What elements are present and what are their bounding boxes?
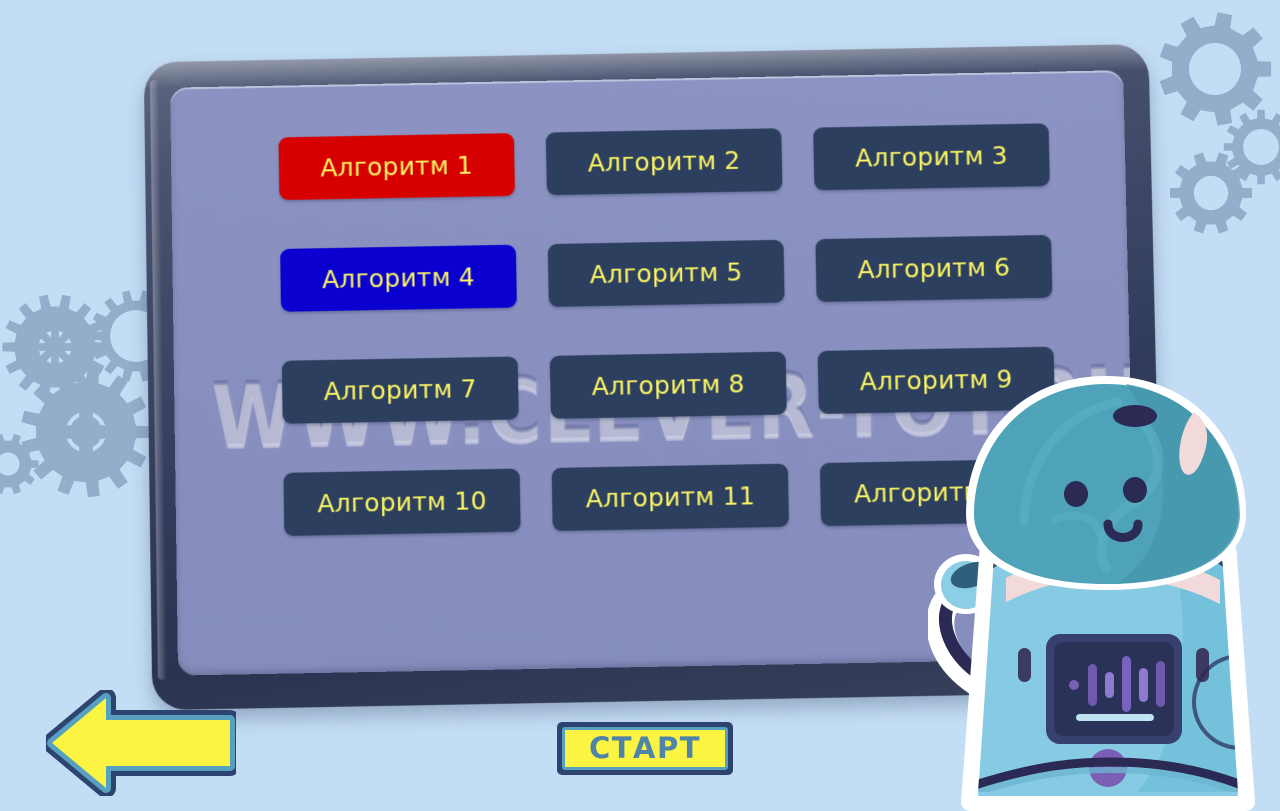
- algorithm-button-11[interactable]: Алгоритм 11: [552, 464, 789, 531]
- algorithm-grid: Алгоритм 1Алгоритм 2Алгоритм 3Алгоритм 4…: [278, 123, 1075, 536]
- algorithm-button-1[interactable]: Алгоритм 1: [278, 133, 514, 200]
- gear-top-right-small-icon: [1222, 108, 1280, 186]
- gear-left-cross-large-icon: [18, 364, 154, 500]
- gear-left-small-edge-icon: [0, 432, 40, 496]
- algorithm-button-7[interactable]: Алгоритм 7: [282, 356, 519, 423]
- gear-right-upper-icon: [1168, 150, 1254, 236]
- app-screen: WWW.CLEVER-TOY.RU Алгоритм 1Алгоритм 2Ал…: [0, 0, 1280, 811]
- algorithm-button-3[interactable]: Алгоритм 3: [813, 123, 1050, 190]
- panel-screen: WWW.CLEVER-TOY.RU Алгоритм 1Алгоритм 2Ал…: [170, 70, 1137, 675]
- algorithm-button-10[interactable]: Алгоритм 10: [283, 469, 520, 536]
- start-button-label: СТАРТ: [589, 734, 701, 763]
- algorithm-button-6[interactable]: Алгоритм 6: [815, 235, 1052, 302]
- algorithm-button-12[interactable]: Алгоритм 12: [820, 459, 1058, 526]
- algorithm-button-4[interactable]: Алгоритм 4: [280, 245, 517, 312]
- algorithm-button-9[interactable]: Алгоритм 9: [818, 347, 1055, 414]
- algorithm-button-8[interactable]: Алгоритм 8: [550, 352, 787, 419]
- start-button[interactable]: СТАРТ: [557, 722, 733, 775]
- algorithm-button-2[interactable]: Алгоритм 2: [546, 128, 783, 195]
- gear-top-right-large-icon: [1156, 10, 1274, 128]
- gear-left-spoked-icon: [0, 292, 110, 402]
- algorithm-button-5[interactable]: Алгоритм 5: [548, 240, 785, 307]
- tablet-panel: WWW.CLEVER-TOY.RU Алгоритм 1Алгоритм 2Ал…: [148, 52, 1156, 700]
- start-button-inner: СТАРТ: [562, 727, 728, 770]
- back-arrow-icon[interactable]: [46, 690, 236, 796]
